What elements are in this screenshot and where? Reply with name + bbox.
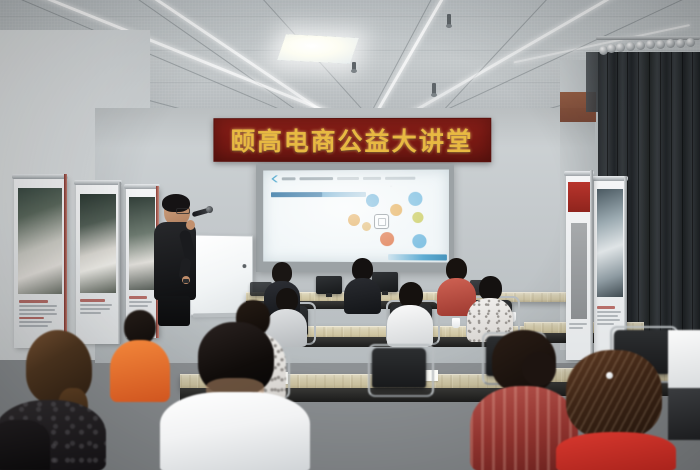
attendee-white-shirt [386, 282, 434, 344]
attendee-torso [160, 392, 310, 470]
projection-screen: ·· ·· [263, 169, 449, 262]
curtain-ring [626, 42, 635, 51]
diagram-bubble [412, 212, 423, 223]
presentation-clicker[interactable] [183, 279, 189, 283]
classroom-photo: 颐高电商公益大讲堂 ·· ·· [0, 0, 700, 470]
attendee-dark-back2 [342, 258, 382, 310]
attendee-hair-bun [522, 352, 556, 386]
attendee-torso [0, 420, 50, 470]
diagram-bubble [366, 194, 379, 207]
chair[interactable] [372, 348, 426, 388]
curtain-ring [676, 39, 685, 48]
attendee-torso [387, 305, 433, 347]
diagram-bubbles [263, 169, 449, 170]
rollup-banner-photo [568, 182, 590, 212]
diagram-center-node [374, 214, 389, 229]
diagram-label: ·· [390, 184, 392, 188]
curtain-ring [646, 40, 655, 49]
attendee-head [124, 310, 156, 344]
sprinkler-head [447, 14, 451, 25]
diagram-bubble [348, 214, 360, 226]
rollup-banner-photo [18, 188, 62, 293]
whiteboard-knob [242, 264, 246, 268]
sprinkler-head [352, 62, 356, 70]
rollup-banner-graphic [571, 223, 588, 319]
ceiling-panel-light [277, 34, 359, 64]
paper-cup [452, 318, 460, 328]
projection-screen-frame: ·· ·· [256, 164, 454, 272]
curtain-ring [666, 39, 675, 48]
attendee-hair [566, 350, 662, 438]
glasses-icon [176, 208, 190, 214]
rollup-banner-photo [80, 194, 117, 293]
presenter-hand [186, 220, 195, 230]
rollup-banner-photo [597, 189, 624, 296]
ceiling-grid-line [0, 16, 700, 17]
curtain-ring [636, 41, 645, 50]
attendee-torso [556, 432, 676, 470]
chevron-left-icon [271, 175, 278, 182]
curtain-ring [686, 38, 695, 47]
diagram-bubble [362, 222, 371, 231]
slide-progress-fill [271, 192, 322, 197]
curtain-ring [616, 43, 625, 52]
rollup-banner-stand [14, 178, 66, 348]
sprinkler-head [432, 83, 436, 94]
curtain-ring [607, 44, 616, 53]
diagram-bubble [408, 192, 422, 206]
rollup-banner-rail [124, 184, 160, 189]
presenter [150, 196, 206, 326]
rollup-banner-rail [74, 180, 122, 185]
rollup-banner-pole [64, 174, 67, 352]
computer-monitor [316, 276, 342, 294]
slide-header [271, 175, 443, 183]
attendee-foreground-left [0, 420, 50, 470]
hair-clip [606, 372, 613, 379]
attendee-torso [344, 278, 381, 314]
rollup-banner-rail [592, 176, 628, 181]
event-banner: 颐高电商公益大讲堂 [213, 118, 491, 162]
monitor-stand [326, 293, 332, 297]
diagram-bubble [390, 204, 402, 216]
rollup-banner-rail [12, 174, 68, 179]
attendee-red-braid [556, 350, 676, 470]
diagram-bubble [380, 232, 394, 246]
rollup-banner-pole [590, 170, 593, 362]
curtain-ring [656, 40, 665, 49]
event-banner-text: 颐高电商公益大讲堂 [231, 122, 474, 158]
attendee-white-shirt [160, 322, 310, 470]
diagram-bubble [412, 234, 426, 248]
